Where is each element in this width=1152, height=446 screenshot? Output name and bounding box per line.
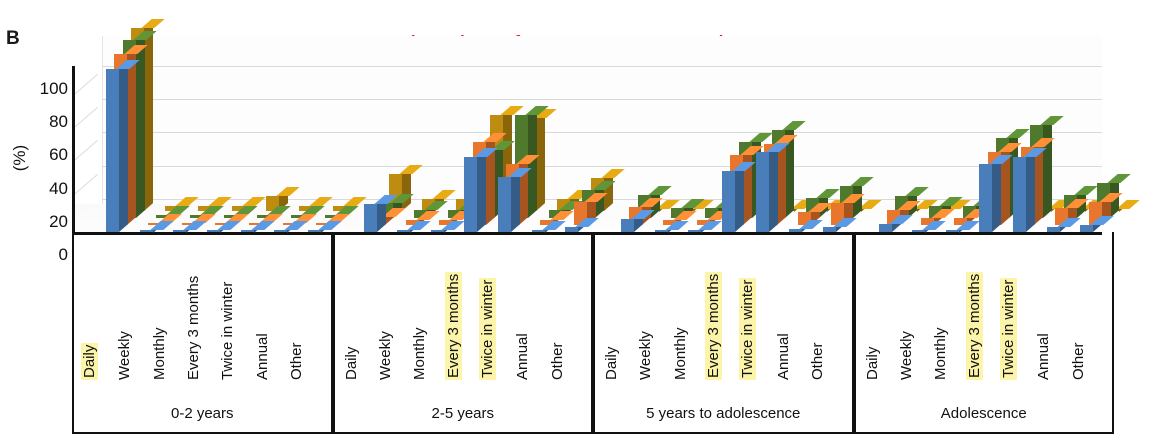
plot-area xyxy=(72,36,1102,234)
bar-face xyxy=(789,229,802,232)
bar-face xyxy=(498,177,511,232)
bar-top xyxy=(850,177,873,186)
category-tick-label: Weekly xyxy=(117,331,132,380)
bar-side xyxy=(511,169,520,232)
bar-side xyxy=(127,46,136,225)
bar xyxy=(756,152,769,232)
category-tick-label: Twice in winter xyxy=(739,278,756,380)
y-tick-label: 100 xyxy=(26,80,68,97)
bar-side xyxy=(144,21,153,211)
category-tick-label: Every 3 months xyxy=(445,272,462,380)
bar-face xyxy=(621,219,634,232)
bar xyxy=(140,230,153,233)
bar-top xyxy=(399,165,422,174)
bar xyxy=(274,230,287,233)
bar-face xyxy=(1080,225,1093,232)
category-tick-label: Weekly xyxy=(378,331,393,380)
category-tick-label: Twice in winter xyxy=(1000,278,1017,380)
bars-layer xyxy=(72,36,1102,234)
bar xyxy=(1080,225,1093,232)
y-tick-label: 40 xyxy=(26,180,68,197)
bar xyxy=(979,164,992,232)
category-tick-label: Monthly xyxy=(673,327,688,380)
category-group: DailyWeeklyMonthlyEvery 3 monthsTwice in… xyxy=(593,232,854,434)
bar-face xyxy=(565,227,578,232)
bar xyxy=(207,230,220,233)
bar-top xyxy=(1007,129,1030,138)
bar-top xyxy=(1116,200,1139,209)
bar xyxy=(431,230,444,233)
bar xyxy=(464,157,477,232)
bar xyxy=(946,230,959,233)
bar xyxy=(498,177,511,232)
bar xyxy=(912,230,925,233)
category-tick-label: Weekly xyxy=(899,331,914,380)
category-tick-label: Every 3 months xyxy=(966,272,983,380)
bar-face xyxy=(823,227,836,232)
category-tick-label: Daily xyxy=(865,347,880,380)
bar-side xyxy=(1026,149,1035,232)
bar xyxy=(241,230,254,233)
category-tick-label: Every 3 months xyxy=(705,272,722,380)
bar-top xyxy=(1040,116,1063,125)
category-group: DailyWeeklyMonthlyEvery 3 monthsTwice in… xyxy=(854,232,1115,434)
group-axis-label: 5 years to adolescence xyxy=(595,405,852,422)
bar-top xyxy=(816,189,839,198)
bar-top xyxy=(276,187,299,196)
bar-face xyxy=(879,224,892,232)
bar xyxy=(308,230,321,233)
bar xyxy=(397,230,410,233)
bar-face xyxy=(464,157,477,232)
y-axis-ticks: 020406080100 xyxy=(26,56,68,242)
category-tick-label: Other xyxy=(810,342,825,380)
bar-side xyxy=(119,61,128,231)
category-tick-label: Weekly xyxy=(638,331,653,380)
category-tick-label: Monthly xyxy=(933,327,948,380)
bar-top xyxy=(601,169,624,178)
category-tick-label: Daily xyxy=(604,347,619,380)
bar-top xyxy=(648,186,671,195)
bar xyxy=(364,204,377,232)
category-tick-label: Twice in winter xyxy=(220,282,235,380)
bar-top xyxy=(175,197,198,206)
bar-side xyxy=(769,144,778,231)
bar xyxy=(722,171,735,232)
category-group: DailyWeeklyMonthlyEvery 3 monthsTwice in… xyxy=(333,232,594,434)
category-tick-label: Annual xyxy=(515,333,530,380)
bar-face xyxy=(756,152,769,232)
bar-top xyxy=(749,133,772,142)
y-tick-label: 0 xyxy=(26,246,68,263)
category-tick-label: Daily xyxy=(344,347,359,380)
bar xyxy=(565,227,578,232)
bar-face xyxy=(106,69,119,232)
group-axis-label: Adolescence xyxy=(856,405,1113,422)
group-axis-label: 2-5 years xyxy=(335,405,592,422)
bar-top xyxy=(433,190,456,199)
category-axis: DailyWeeklyMonthlyEvery 3 monthsTwice in… xyxy=(72,232,1114,434)
category-tick-label: Other xyxy=(289,342,304,380)
bar-side xyxy=(992,156,1001,232)
y-tick-label: 80 xyxy=(26,113,68,130)
y-tick-label: 20 xyxy=(26,213,68,230)
category-tick-label: Other xyxy=(1071,342,1086,380)
bar xyxy=(621,219,634,232)
category-tick-label: Annual xyxy=(776,333,791,380)
bar-top xyxy=(783,121,806,130)
category-group: DailyWeeklyMonthlyEvery 3 monthsTwice in… xyxy=(72,232,333,434)
bar xyxy=(106,69,119,232)
bar xyxy=(823,227,836,232)
bar xyxy=(173,230,186,233)
bar xyxy=(688,230,701,233)
group-axis-label: 0-2 years xyxy=(74,405,331,422)
bar-top xyxy=(242,197,265,206)
bar-face xyxy=(979,164,992,232)
bar-face xyxy=(1047,227,1060,232)
bar xyxy=(789,229,802,232)
bar xyxy=(1047,227,1060,232)
bar-face xyxy=(722,171,735,232)
bar xyxy=(532,230,545,233)
bar-side xyxy=(1043,117,1052,218)
category-tick-label: Twice in winter xyxy=(479,278,496,380)
y-tick-label: 60 xyxy=(26,146,68,163)
bar-top xyxy=(500,106,523,115)
category-tick-label: Monthly xyxy=(412,327,427,380)
bar xyxy=(1013,157,1026,232)
bar-side xyxy=(735,163,744,232)
bar xyxy=(655,230,668,233)
bar-top xyxy=(142,19,165,28)
category-tick-label: Annual xyxy=(1036,333,1051,380)
bar-side xyxy=(477,149,486,232)
bar-top xyxy=(1108,174,1131,183)
bar-top xyxy=(209,197,232,206)
bar-top xyxy=(906,187,929,196)
bar-top xyxy=(310,197,333,206)
panel-label: B xyxy=(6,28,20,50)
bar-top xyxy=(1074,186,1097,195)
bar-face xyxy=(364,204,377,232)
bar-side xyxy=(536,110,545,211)
bar xyxy=(879,224,892,232)
bar-face xyxy=(1013,157,1026,232)
bar-side xyxy=(743,147,752,225)
category-tick-label: Other xyxy=(550,342,565,380)
category-tick-label: Every 3 months xyxy=(186,276,201,380)
bar-side xyxy=(519,156,528,225)
category-tick-label: Annual xyxy=(255,333,270,380)
category-tick-label: Daily xyxy=(81,343,98,380)
category-tick-label: Monthly xyxy=(152,327,167,380)
